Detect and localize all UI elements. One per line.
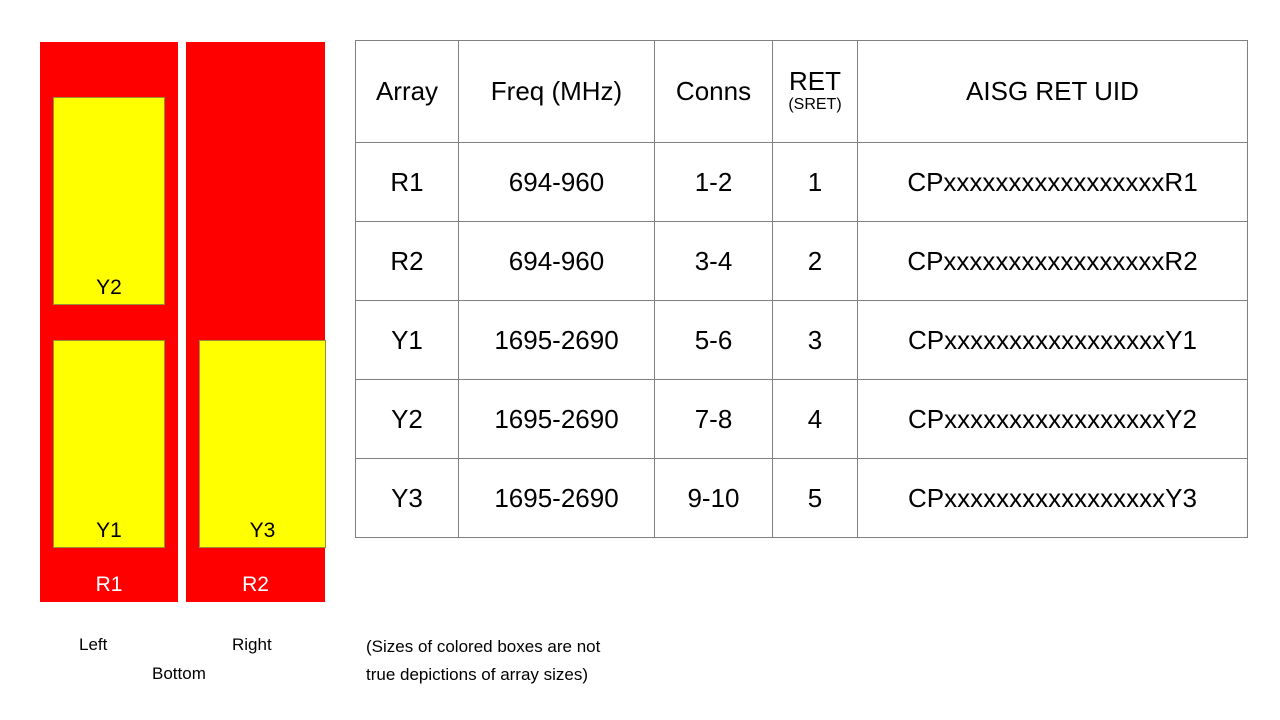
cell-conns: 1-2 [655, 143, 773, 222]
cell-array: Y2 [356, 380, 459, 459]
antenna-panel-right: Y3 R2 [186, 42, 325, 602]
cell-uid: CPxxxxxxxxxxxxxxxxxR2 [858, 222, 1248, 301]
orientation-label-left: Left [79, 636, 107, 653]
cell-conns: 7-8 [655, 380, 773, 459]
note-line-2: true depictions of array sizes) [366, 661, 696, 689]
cell-uid: CPxxxxxxxxxxxxxxxxxY3 [858, 459, 1248, 538]
cell-freq: 694-960 [459, 143, 655, 222]
cell-freq: 1695-2690 [459, 301, 655, 380]
cell-freq: 694-960 [459, 222, 655, 301]
cell-ret: 5 [773, 459, 858, 538]
cell-uid: CPxxxxxxxxxxxxxxxxxY2 [858, 380, 1248, 459]
note-line-1: (Sizes of colored boxes are not [366, 633, 696, 661]
array-box-y3: Y3 [199, 340, 326, 548]
orientation-label-right: Right [232, 636, 272, 653]
cell-freq: 1695-2690 [459, 459, 655, 538]
antenna-panel-left: Y2 Y1 R1 [40, 42, 178, 602]
table-body: R1 694-960 1-2 1 CPxxxxxxxxxxxxxxxxxR1 R… [356, 143, 1248, 538]
antenna-array-diagram: Y2 Y1 R1 Y3 R2 Left Right Bottom [0, 0, 352, 720]
column-header-ret: RET (SRET) [773, 41, 858, 143]
table-row: R1 694-960 1-2 1 CPxxxxxxxxxxxxxxxxxR1 [356, 143, 1248, 222]
column-header-ret-sub: (SRET) [777, 95, 853, 116]
cell-ret: 1 [773, 143, 858, 222]
cell-conns: 5-6 [655, 301, 773, 380]
cell-array: R2 [356, 222, 459, 301]
cell-array: Y1 [356, 301, 459, 380]
array-box-label-y3: Y3 [200, 520, 325, 541]
column-header-array: Array [356, 41, 459, 143]
cell-conns: 3-4 [655, 222, 773, 301]
cell-ret: 4 [773, 380, 858, 459]
table-header-row: Array Freq (MHz) Conns RET (SRET) AISG R… [356, 41, 1248, 143]
array-box-y2: Y2 [53, 97, 165, 305]
array-box-label-y1: Y1 [54, 520, 164, 541]
antenna-panel-label-r2: R2 [186, 574, 325, 595]
table-row: Y2 1695-2690 7-8 4 CPxxxxxxxxxxxxxxxxxY2 [356, 380, 1248, 459]
cell-uid: CPxxxxxxxxxxxxxxxxxR1 [858, 143, 1248, 222]
diagram-disclaimer-note: (Sizes of colored boxes are not true dep… [366, 633, 696, 689]
cell-conns: 9-10 [655, 459, 773, 538]
array-box-y1: Y1 [53, 340, 165, 548]
cell-array: Y3 [356, 459, 459, 538]
cell-uid: CPxxxxxxxxxxxxxxxxxY1 [858, 301, 1248, 380]
slide-canvas: Y2 Y1 R1 Y3 R2 Left Right Bottom (Sizes … [0, 0, 1280, 720]
cell-array: R1 [356, 143, 459, 222]
column-header-conns: Conns [655, 41, 773, 143]
orientation-label-bottom: Bottom [152, 665, 206, 682]
cell-ret: 2 [773, 222, 858, 301]
array-box-label-y2: Y2 [54, 277, 164, 298]
array-specification-table: Array Freq (MHz) Conns RET (SRET) AISG R… [355, 40, 1248, 538]
column-header-freq: Freq (MHz) [459, 41, 655, 143]
cell-freq: 1695-2690 [459, 380, 655, 459]
table-row: Y1 1695-2690 5-6 3 CPxxxxxxxxxxxxxxxxxY1 [356, 301, 1248, 380]
table-row: Y3 1695-2690 9-10 5 CPxxxxxxxxxxxxxxxxxY… [356, 459, 1248, 538]
column-header-ret-main: RET [777, 67, 853, 96]
antenna-panel-label-r1: R1 [40, 574, 178, 595]
column-header-uid: AISG RET UID [858, 41, 1248, 143]
table-row: R2 694-960 3-4 2 CPxxxxxxxxxxxxxxxxxR2 [356, 222, 1248, 301]
cell-ret: 3 [773, 301, 858, 380]
